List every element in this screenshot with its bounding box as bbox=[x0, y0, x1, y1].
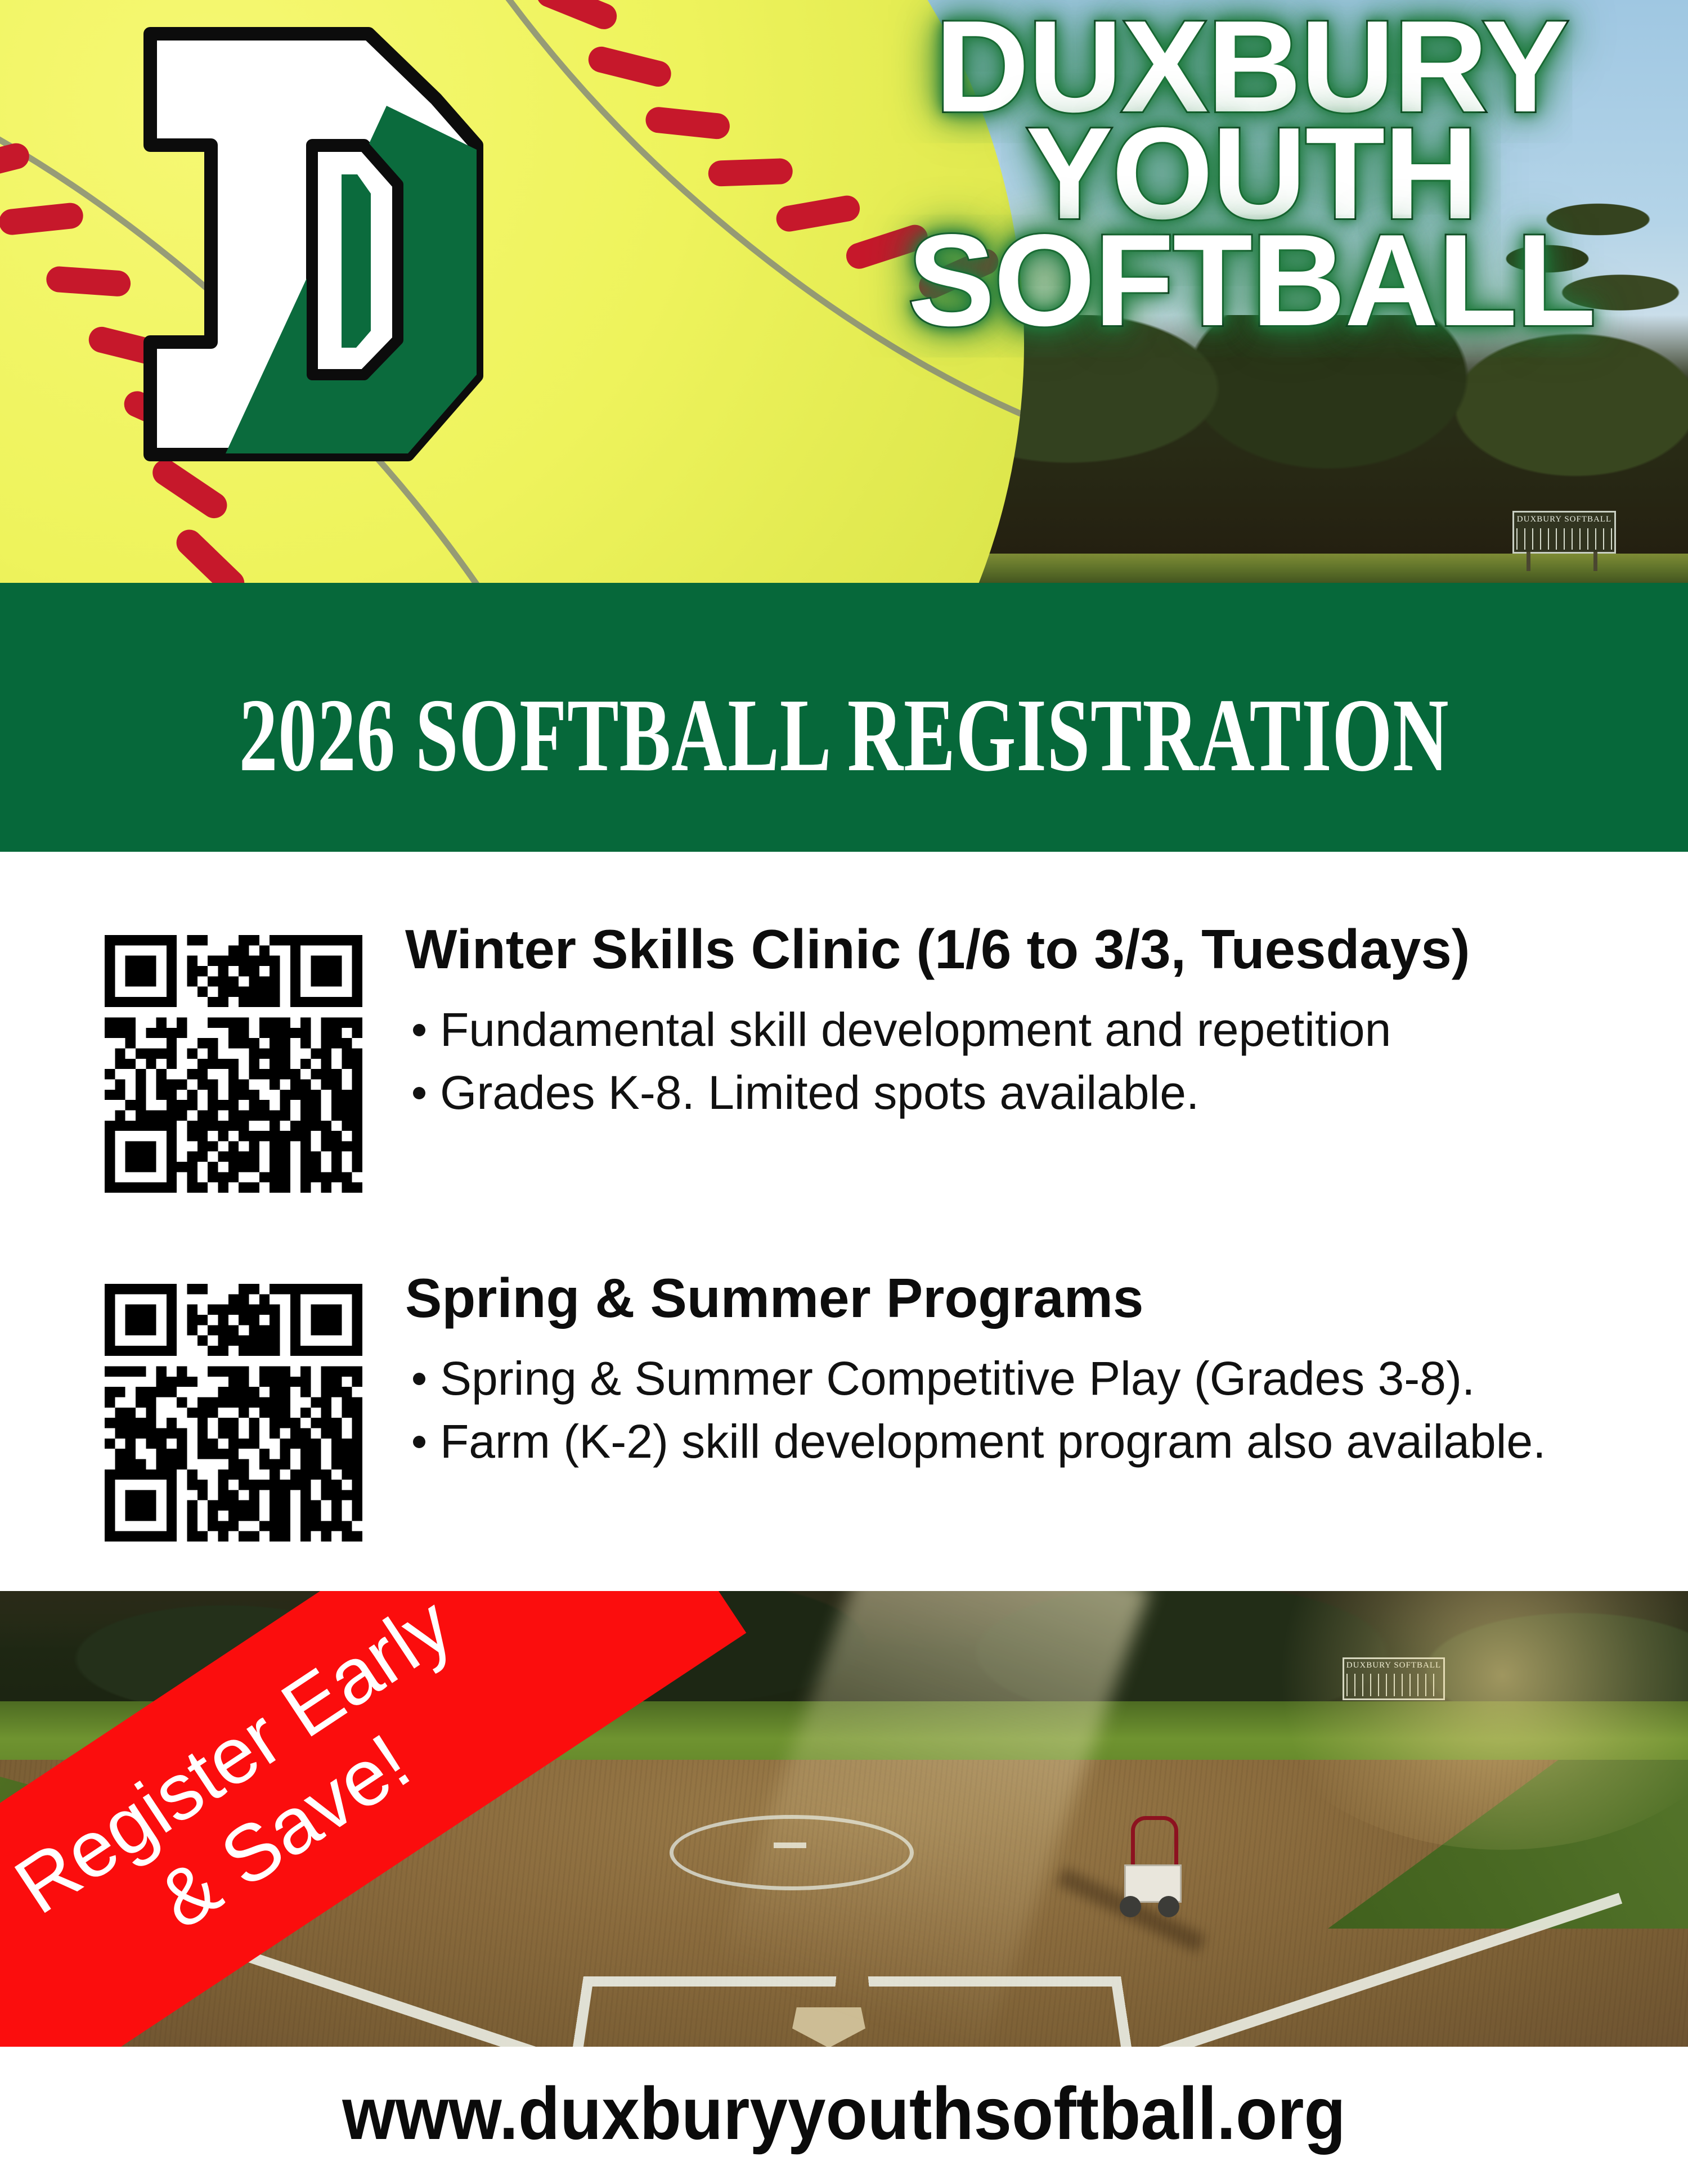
marker-wheel-right bbox=[1158, 1896, 1179, 1917]
header-section: DUXBURY SOFTBALL bbox=[0, 0, 1688, 583]
field-photo-section: DUXBURY SOFTBALL Register Early & Save! bbox=[0, 1591, 1688, 2047]
program-bullets-spring-summer: Spring & Summer Competitive Play (Grades… bbox=[405, 1347, 1654, 1473]
winter-skills-clinic-qr-code[interactable] bbox=[105, 935, 362, 1193]
program-bullet: Grades K-8. Limited spots available. bbox=[405, 1061, 1654, 1124]
program-heading-spring-summer: Spring & Summer Programs bbox=[405, 1268, 1654, 1328]
footer-section: www.duxburyyouthsoftball.org bbox=[0, 2047, 1688, 2184]
header-scoreboard-grid bbox=[1516, 528, 1612, 550]
program-heading-winter: Winter Skills Clinic (1/6 to 3/3, Tuesda… bbox=[405, 919, 1654, 979]
program-text-spring-summer: Spring & Summer Programs Spring & Summer… bbox=[405, 1268, 1654, 1473]
qr-code-1-svg[interactable] bbox=[105, 935, 362, 1193]
qr-code-2-svg[interactable] bbox=[105, 1284, 362, 1542]
programs-section: Winter Skills Clinic (1/6 to 3/3, Tuesda… bbox=[0, 852, 1688, 1591]
program-bullets-winter: Fundamental skill development and repeti… bbox=[405, 998, 1654, 1124]
marker-wheel-left bbox=[1120, 1896, 1141, 1917]
registration-banner: 2026 SOFTBALL REGISTRATION bbox=[0, 583, 1688, 852]
marker-handle bbox=[1131, 1816, 1178, 1872]
logo-d-svg bbox=[143, 27, 504, 477]
header-scoreboard: DUXBURY SOFTBALL bbox=[1512, 511, 1616, 554]
chalk-line-marker bbox=[1114, 1816, 1187, 1917]
website-url[interactable]: www.duxburyyouthsoftball.org bbox=[68, 2071, 1620, 2156]
program-bullet: Farm (K-2) skill development program als… bbox=[405, 1410, 1654, 1473]
program-text-winter: Winter Skills Clinic (1/6 to 3/3, Tuesda… bbox=[405, 919, 1654, 1124]
program-bullet: Spring & Summer Competitive Play (Grades… bbox=[405, 1347, 1654, 1410]
scoreboard-post-right bbox=[1593, 552, 1597, 571]
poster-root: DUXBURY SOFTBALL bbox=[0, 0, 1688, 2184]
scoreboard-post-left bbox=[1527, 552, 1530, 571]
header-scoreboard-label: DUXBURY SOFTBALL bbox=[1514, 515, 1614, 524]
spring-summer-programs-qr-code[interactable] bbox=[105, 1284, 362, 1542]
duxbury-d-logo bbox=[143, 27, 504, 477]
program-bullet: Fundamental skill development and repeti… bbox=[405, 998, 1654, 1061]
registration-banner-title: 2026 SOFTBALL REGISTRATION bbox=[219, 683, 1469, 788]
header-title-line-3: SOFTBALL bbox=[869, 227, 1634, 334]
header-title: DUXBURY YOUTH SOFTBALL bbox=[869, 14, 1634, 334]
